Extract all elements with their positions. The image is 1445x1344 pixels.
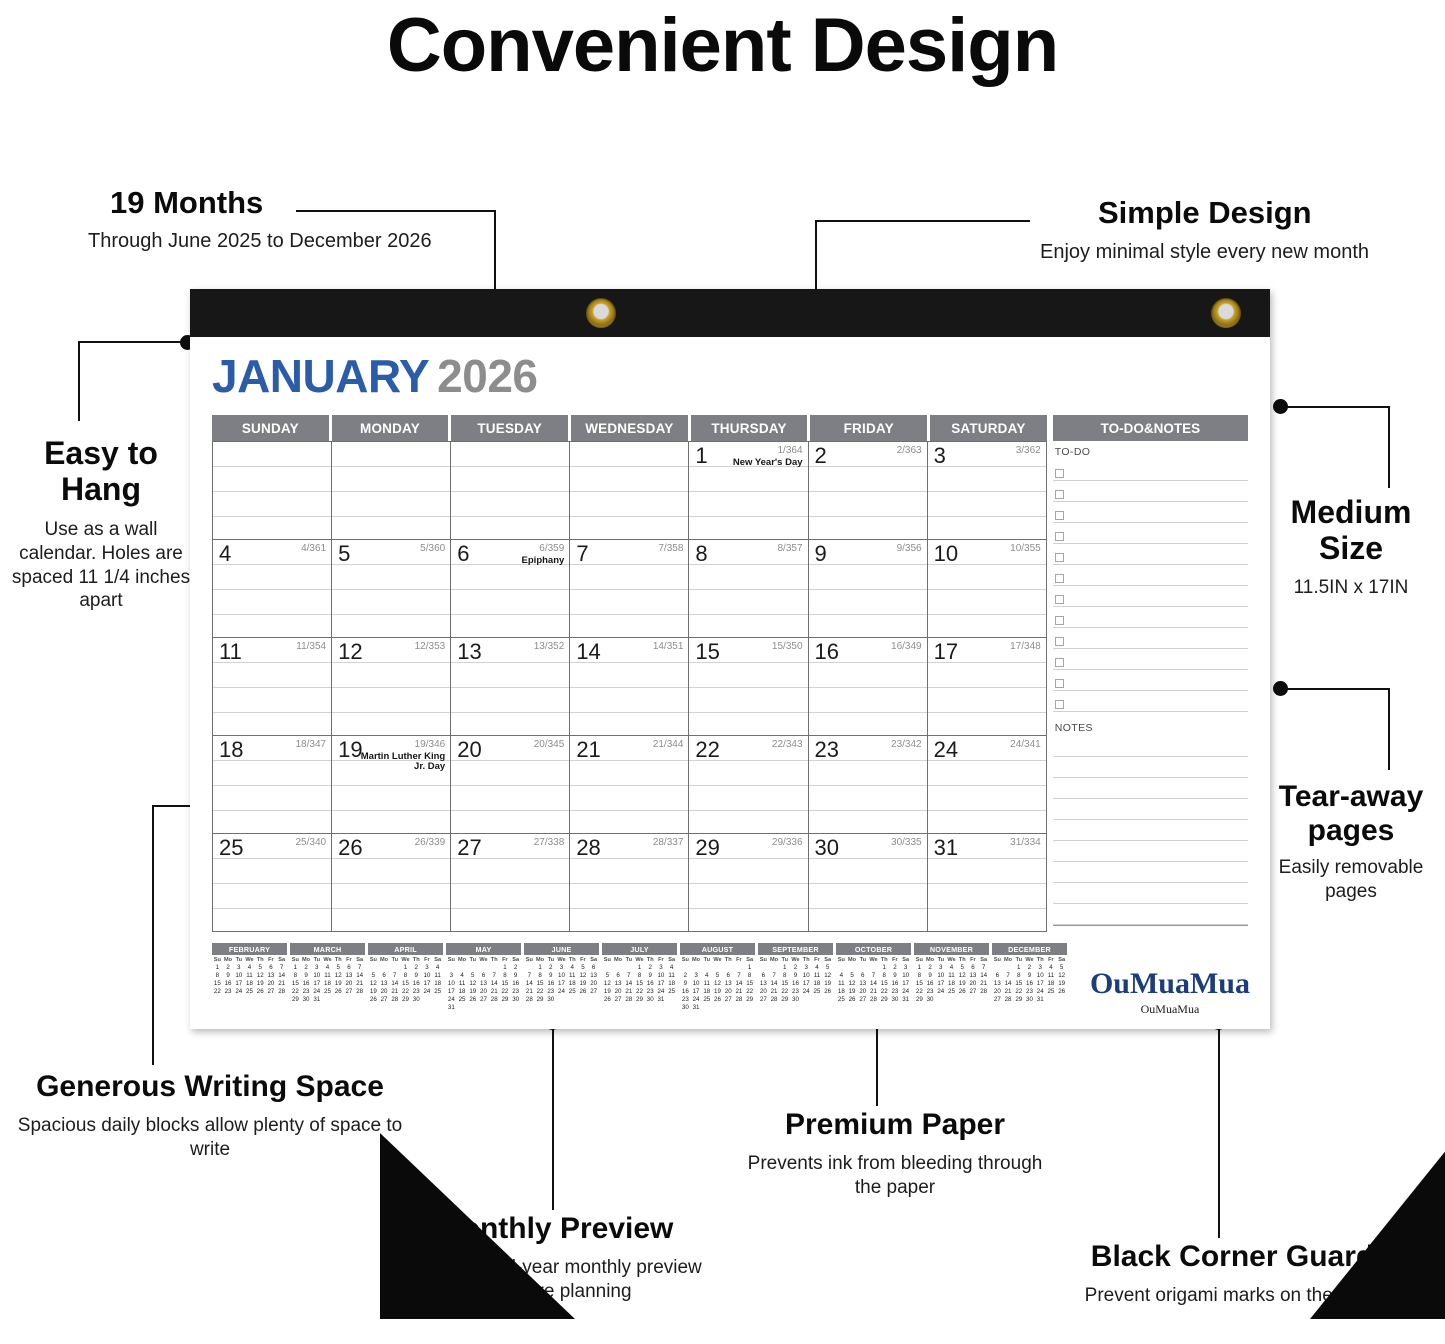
mini-day: 11: [666, 972, 677, 979]
mini-day: 28: [389, 996, 400, 1003]
mini-day: 29: [779, 996, 790, 1003]
mini-weekday: We: [790, 957, 801, 963]
callout-subtitle: Through June 2025 to December 2026: [88, 229, 508, 254]
mini-day: 3: [311, 964, 322, 971]
mini-day: 25: [1046, 988, 1057, 995]
day-number: 17: [934, 641, 958, 663]
mini-day: 18: [701, 988, 712, 995]
mini-weekday: We: [478, 957, 489, 963]
mini-month-july: JULYSuMoTuWeThFrSa 123456789101112131415…: [602, 943, 677, 1011]
mini-day: 6: [992, 972, 1003, 979]
calendar-week-row: 1818/3471919/346Martin Luther King Jr. D…: [212, 736, 1047, 834]
mini-day: 1: [535, 964, 546, 971]
checkbox-icon[interactable]: [1055, 532, 1064, 541]
checkbox-icon[interactable]: [1055, 679, 1064, 688]
todo-line[interactable]: [1053, 481, 1248, 502]
julian-date-marker: 24/341: [1010, 740, 1041, 751]
callout-subtitle: 11.5IN x 17IN: [1258, 576, 1444, 600]
mini-day: 12: [847, 980, 858, 987]
checkbox-icon[interactable]: [1055, 616, 1064, 625]
mini-day: 22: [290, 988, 301, 995]
note-line[interactable]: [1053, 883, 1248, 904]
mini-weekday: Tu: [623, 957, 634, 963]
day-number: 20: [457, 739, 481, 761]
mini-day: 15: [914, 980, 925, 987]
mini-weekday: Mo: [691, 957, 702, 963]
mini-day: 24: [311, 988, 322, 995]
todo-panel-inner: TO-DO NOTES: [1053, 441, 1248, 926]
mini-day: 12: [255, 972, 266, 979]
mini-weekday: Fr: [734, 957, 745, 963]
mini-day: 16: [223, 980, 234, 987]
mini-day: 31: [691, 1004, 702, 1011]
mini-weekday: Th: [567, 957, 578, 963]
julian-date-marker: 21/344: [653, 740, 684, 751]
mini-day: 1: [634, 964, 645, 971]
checkbox-icon[interactable]: [1055, 553, 1064, 562]
mini-day: 8: [290, 972, 301, 979]
julian-date-marker: 10/355: [1010, 544, 1041, 555]
mini-weekday: Th: [879, 957, 890, 963]
todo-line[interactable]: [1053, 523, 1248, 544]
leader-line-tear-away-vertical: [1388, 688, 1390, 770]
mini-day-empty: [769, 964, 780, 971]
mini-month-weekday-row: SuMoTuWeThFrSa: [368, 957, 443, 963]
mini-weekday: Fr: [968, 957, 979, 963]
calendar-day-cell-9: 99/356: [809, 540, 928, 638]
mini-weekday: We: [322, 957, 333, 963]
mini-day: 15: [500, 980, 511, 987]
day-number: 31: [934, 837, 958, 859]
mini-day: 30: [510, 996, 521, 1003]
mini-day: 7: [769, 972, 780, 979]
callout-title: Generous Writing Space: [0, 1070, 420, 1104]
mini-day: 4: [701, 972, 712, 979]
mini-day: 21: [734, 988, 745, 995]
mini-day: 6: [588, 964, 599, 971]
mini-day: 30: [411, 996, 422, 1003]
mini-day: 13: [588, 972, 599, 979]
mini-day: 8: [634, 972, 645, 979]
mini-day: 4: [567, 964, 578, 971]
mini-day: 13: [968, 972, 979, 979]
mini-weekday: We: [946, 957, 957, 963]
note-line[interactable]: [1053, 736, 1248, 757]
checkbox-icon[interactable]: [1055, 469, 1064, 478]
mini-day: 10: [311, 972, 322, 979]
mini-day: 18: [567, 980, 578, 987]
mini-day: 1: [914, 964, 925, 971]
mini-day: 22: [914, 988, 925, 995]
mini-day: 12: [368, 980, 379, 987]
checkbox-icon[interactable]: [1055, 574, 1064, 583]
mini-day: 4: [946, 964, 957, 971]
mini-day-empty: [712, 964, 723, 971]
mini-day: 22: [500, 988, 511, 995]
mini-day-empty: [368, 964, 379, 971]
mini-day: 5: [712, 972, 723, 979]
mini-day: 16: [301, 980, 312, 987]
todo-line[interactable]: [1053, 670, 1248, 691]
mini-day: 4: [836, 972, 847, 979]
day-number: 13: [457, 641, 481, 663]
mini-day: 10: [422, 972, 433, 979]
mini-day: 1: [879, 964, 890, 971]
mini-day: 22: [400, 988, 411, 995]
mini-month-weekday-row: SuMoTuWeThFrSa: [992, 957, 1067, 963]
checkbox-icon[interactable]: [1055, 700, 1064, 709]
mini-weekday: Tu: [233, 957, 244, 963]
mini-day: 25: [836, 996, 847, 1003]
mini-month-name: DECEMBER: [992, 943, 1067, 955]
todo-line[interactable]: [1053, 649, 1248, 670]
todo-notes-panel: TO-DO&NOTES TO-DO NOTES: [1053, 415, 1248, 932]
mini-weekday: Mo: [1003, 957, 1014, 963]
mini-day: 13: [478, 980, 489, 987]
mini-day: 15: [212, 980, 223, 987]
mini-day: 18: [812, 980, 823, 987]
leader-line-simple-design: [815, 220, 1030, 222]
day-number: 30: [815, 837, 839, 859]
mini-weekday: We: [400, 957, 411, 963]
weekday-header-wednesday: WEDNESDAY: [571, 415, 688, 441]
checkbox-icon[interactable]: [1055, 595, 1064, 604]
mini-day: 10: [233, 972, 244, 979]
mini-day: 26: [822, 988, 833, 995]
mini-weekday: Sa: [744, 957, 755, 963]
mini-day-empty: [723, 964, 734, 971]
julian-date-marker: 5/360: [420, 544, 445, 555]
mini-day: 10: [935, 972, 946, 979]
todo-line[interactable]: [1053, 502, 1248, 523]
julian-date-marker: 8/357: [777, 544, 802, 555]
mini-day: 19: [1056, 980, 1067, 987]
holiday-label: New Year's Day: [733, 458, 803, 468]
todo-line[interactable]: [1053, 691, 1248, 712]
note-line[interactable]: [1053, 757, 1248, 778]
mini-month-september: SEPTEMBERSuMoTuWeThFrSa 1234567891011121…: [758, 943, 833, 1011]
mini-day: 2: [1024, 964, 1035, 971]
weekday-header-tuesday: TUESDAY: [451, 415, 568, 441]
mini-weekday: Fr: [344, 957, 355, 963]
note-line[interactable]: [1053, 799, 1248, 820]
mini-day: 14: [389, 980, 400, 987]
mini-day: 8: [1013, 972, 1024, 979]
mini-day: 15: [779, 980, 790, 987]
todo-line[interactable]: [1053, 628, 1248, 649]
mini-day: 24: [801, 988, 812, 995]
mini-month-day-grid: 1234567891011121314151617181920212223242…: [212, 964, 287, 995]
black-corner-guard-bottom-right: [1310, 1133, 1445, 1319]
mini-day: 17: [233, 980, 244, 987]
calendar-day-cell-7: 77/358: [570, 540, 689, 638]
mini-day: 5: [847, 972, 858, 979]
mini-weekday: Su: [212, 957, 223, 963]
mini-weekday: Mo: [301, 957, 312, 963]
checkbox-icon[interactable]: [1055, 511, 1064, 520]
julian-date-marker: 12/353: [415, 642, 446, 653]
mini-day: 7: [623, 972, 634, 979]
day-number: 3: [934, 445, 946, 467]
note-line[interactable]: [1053, 778, 1248, 799]
mini-day: 25: [244, 988, 255, 995]
mini-day: 28: [868, 996, 879, 1003]
mini-weekday: Su: [836, 957, 847, 963]
calendar-day-cell-4: 44/361: [213, 540, 332, 638]
mini-day: 10: [801, 972, 812, 979]
julian-date-marker: 14/351: [653, 642, 684, 653]
mini-day: 17: [556, 980, 567, 987]
mini-day: 3: [556, 964, 567, 971]
mini-day: 17: [935, 980, 946, 987]
julian-date-marker: 25/340: [296, 838, 327, 849]
todo-line[interactable]: [1053, 607, 1248, 628]
todo-line[interactable]: [1053, 460, 1248, 481]
mini-day: 9: [925, 972, 936, 979]
mini-day: 24: [422, 988, 433, 995]
mini-day: 7: [868, 972, 879, 979]
mini-day: 20: [478, 988, 489, 995]
mini-day: 31: [656, 996, 667, 1003]
mini-day: 9: [411, 972, 422, 979]
day-number: 9: [815, 543, 827, 565]
mini-weekday: Mo: [613, 957, 624, 963]
mini-day: 8: [500, 972, 511, 979]
mini-month-march: MARCHSuMoTuWeThFrSa123456789101112131415…: [290, 943, 365, 1011]
callout-subtitle: Spacious daily blocks allow plenty of sp…: [0, 1114, 420, 1162]
calendar-day-cell-28: 2828/337: [570, 834, 689, 932]
mini-day: 16: [545, 980, 556, 987]
julian-date-marker: 16/349: [891, 642, 922, 653]
mini-day: 27: [266, 988, 277, 995]
mini-day: 23: [925, 988, 936, 995]
calendar-day-cell-12: 1212/353: [332, 638, 451, 736]
mini-day: 21: [276, 980, 287, 987]
mini-day: 23: [301, 988, 312, 995]
mini-weekday: Sa: [900, 957, 911, 963]
mini-day: 26: [957, 988, 968, 995]
mini-month-april: APRILSuMoTuWeThFrSa 12345678910111213141…: [368, 943, 443, 1011]
mini-day: 10: [900, 972, 911, 979]
mini-day: 4: [457, 972, 468, 979]
calendar-day-cell-17: 1717/348: [928, 638, 1047, 736]
calendar-day-cell-19: 1919/346Martin Luther King Jr. Day: [332, 736, 451, 834]
mini-day: 14: [623, 980, 634, 987]
mini-day: 19: [602, 988, 613, 995]
mini-day: 19: [712, 988, 723, 995]
mini-day: 25: [567, 988, 578, 995]
note-line[interactable]: [1053, 904, 1248, 925]
mini-day-empty: [489, 964, 500, 971]
mini-day: 26: [467, 996, 478, 1003]
mini-weekday: Su: [368, 957, 379, 963]
calendar-weeks: 11/364New Year's Day22/36333/36244/36155…: [212, 441, 1047, 932]
mini-day: 3: [801, 964, 812, 971]
mini-weekday: Fr: [500, 957, 511, 963]
callout-premium-paper: Premium Paper Prevents ink from bleeding…: [735, 1108, 1055, 1199]
day-number: 8: [695, 543, 707, 565]
mini-day: 6: [379, 972, 390, 979]
mini-day: 1: [1013, 964, 1024, 971]
todo-label: TO-DO: [1053, 445, 1248, 460]
mini-day: 23: [223, 988, 234, 995]
julian-date-marker: 27/338: [534, 838, 565, 849]
checkbox-icon[interactable]: [1055, 658, 1064, 667]
mini-day: 22: [779, 988, 790, 995]
mini-day: 6: [613, 972, 624, 979]
grommet-hole-icon-left: [586, 298, 616, 328]
mini-day: 14: [354, 972, 365, 979]
mini-weekday: Sa: [822, 957, 833, 963]
mini-month-june: JUNESuMoTuWeThFrSa 123456789101112131415…: [524, 943, 599, 1011]
mini-day: 11: [946, 972, 957, 979]
mini-day-empty: [602, 964, 613, 971]
todo-line[interactable]: [1053, 565, 1248, 586]
mini-day: 5: [467, 972, 478, 979]
calendar-day-cell-26: 2626/339: [332, 834, 451, 932]
mini-day: 4: [666, 964, 677, 971]
mini-month-day-grid: 1234567891011121314151617181920212223242…: [446, 964, 521, 1011]
mini-day-empty: [623, 964, 634, 971]
day-number: 15: [695, 641, 719, 663]
mini-weekday: Tu: [701, 957, 712, 963]
mini-day: 29: [914, 996, 925, 1003]
mini-weekday: Th: [957, 957, 968, 963]
mini-day: 23: [545, 988, 556, 995]
mini-day: 11: [812, 972, 823, 979]
mini-day: 14: [868, 980, 879, 987]
mini-day: 13: [613, 980, 624, 987]
mini-day: 12: [1056, 972, 1067, 979]
mini-day: 5: [255, 964, 266, 971]
note-line[interactable]: [1053, 862, 1248, 883]
mini-day: 8: [744, 972, 755, 979]
mini-day-empty: [836, 964, 847, 971]
mini-weekday: Mo: [769, 957, 780, 963]
mini-weekday: Mo: [457, 957, 468, 963]
mini-day: 16: [510, 980, 521, 987]
mini-day: 2: [223, 964, 234, 971]
calendar-day-cell-27: 2727/338: [451, 834, 570, 932]
mini-day: 10: [691, 980, 702, 987]
julian-date-marker: 15/350: [772, 642, 803, 653]
mini-day: 30: [545, 996, 556, 1003]
checkbox-icon[interactable]: [1055, 490, 1064, 499]
mini-day: 29: [500, 996, 511, 1003]
mini-day: 6: [723, 972, 734, 979]
mini-day: 5: [333, 964, 344, 971]
mini-day: 21: [623, 988, 634, 995]
calendar-grid-wrapper: SUNDAYMONDAYTUESDAYWEDNESDAYTHURSDAYFRID…: [212, 415, 1248, 932]
mini-day: 12: [602, 980, 613, 987]
calendar-day-cell-14: 1414/351: [570, 638, 689, 736]
julian-date-marker: 2/363: [897, 446, 922, 457]
mini-day: 27: [857, 996, 868, 1003]
mini-day: 27: [613, 996, 624, 1003]
mini-day: 12: [712, 980, 723, 987]
mini-day: 13: [723, 980, 734, 987]
mini-day: 16: [890, 980, 901, 987]
calendar-day-cell-23: 2323/342: [809, 736, 928, 834]
mini-day: 23: [510, 988, 521, 995]
mini-day: 10: [446, 980, 457, 987]
julian-date-marker: 17/348: [1010, 642, 1041, 653]
leader-dot-medium-size: [1273, 399, 1288, 414]
mini-day: 30: [890, 996, 901, 1003]
mini-month-day-grid: 1234567891011121314151617181920212223242…: [680, 964, 755, 1011]
mini-day: 3: [422, 964, 433, 971]
mini-day: 27: [588, 988, 599, 995]
mini-day-empty: [478, 964, 489, 971]
mini-day: 11: [567, 972, 578, 979]
todo-line[interactable]: [1053, 586, 1248, 607]
mini-day: 1: [500, 964, 511, 971]
mini-day: 8: [879, 972, 890, 979]
mini-day-empty: [992, 964, 1003, 971]
mini-day: 27: [344, 988, 355, 995]
mini-weekday: We: [868, 957, 879, 963]
mini-day: 30: [1024, 996, 1035, 1003]
day-number: 2: [815, 445, 827, 467]
mini-day: 12: [822, 972, 833, 979]
mini-month-november: NOVEMBERSuMoTuWeThFrSa123456789101112131…: [914, 943, 989, 1011]
mini-day: 2: [545, 964, 556, 971]
mini-day-empty: [734, 964, 745, 971]
checkbox-icon[interactable]: [1055, 637, 1064, 646]
notes-line-list: [1053, 736, 1248, 925]
mini-day: 24: [556, 988, 567, 995]
mini-day: 22: [212, 988, 223, 995]
mini-day: 16: [645, 980, 656, 987]
callout-subtitle: Easily removable pages: [1258, 856, 1444, 904]
mini-month-name: MARCH: [290, 943, 365, 955]
mini-day: 31: [1035, 996, 1046, 1003]
mini-day: 24: [1035, 988, 1046, 995]
mini-day: 11: [322, 972, 333, 979]
mini-day: 19: [957, 980, 968, 987]
julian-date-marker: 18/347: [296, 740, 327, 751]
mini-day: 19: [368, 988, 379, 995]
mini-day: 11: [836, 980, 847, 987]
mini-day: 30: [790, 996, 801, 1003]
mini-day: 31: [311, 996, 322, 1003]
mini-day: 30: [925, 996, 936, 1003]
mini-day: 28: [978, 988, 989, 995]
mini-day: 28: [489, 996, 500, 1003]
mini-day: 28: [524, 996, 535, 1003]
mini-month-name: NOVEMBER: [914, 943, 989, 955]
mini-day: 13: [857, 980, 868, 987]
calendar-day-cell-18: 1818/347: [213, 736, 332, 834]
mini-day: 2: [790, 964, 801, 971]
note-line[interactable]: [1053, 841, 1248, 862]
julian-date-marker: 20/345: [534, 740, 565, 751]
todo-line[interactable]: [1053, 544, 1248, 565]
mini-day: 4: [812, 964, 823, 971]
callout-medium-size: Medium Size 11.5IN x 17IN: [1258, 495, 1444, 600]
julian-date-marker: 1/364: [777, 446, 802, 457]
mini-day-empty: [691, 964, 702, 971]
mini-day: 15: [400, 980, 411, 987]
leader-line-easy-to-hang-vertical: [78, 341, 80, 421]
note-line[interactable]: [1053, 820, 1248, 841]
mini-day: 2: [890, 964, 901, 971]
julian-date-marker: 19/346: [415, 740, 446, 751]
mini-day: 27: [992, 996, 1003, 1003]
calendar-day-cell-25: 2525/340: [213, 834, 332, 932]
mini-day: 28: [623, 996, 634, 1003]
mini-day: 19: [467, 988, 478, 995]
